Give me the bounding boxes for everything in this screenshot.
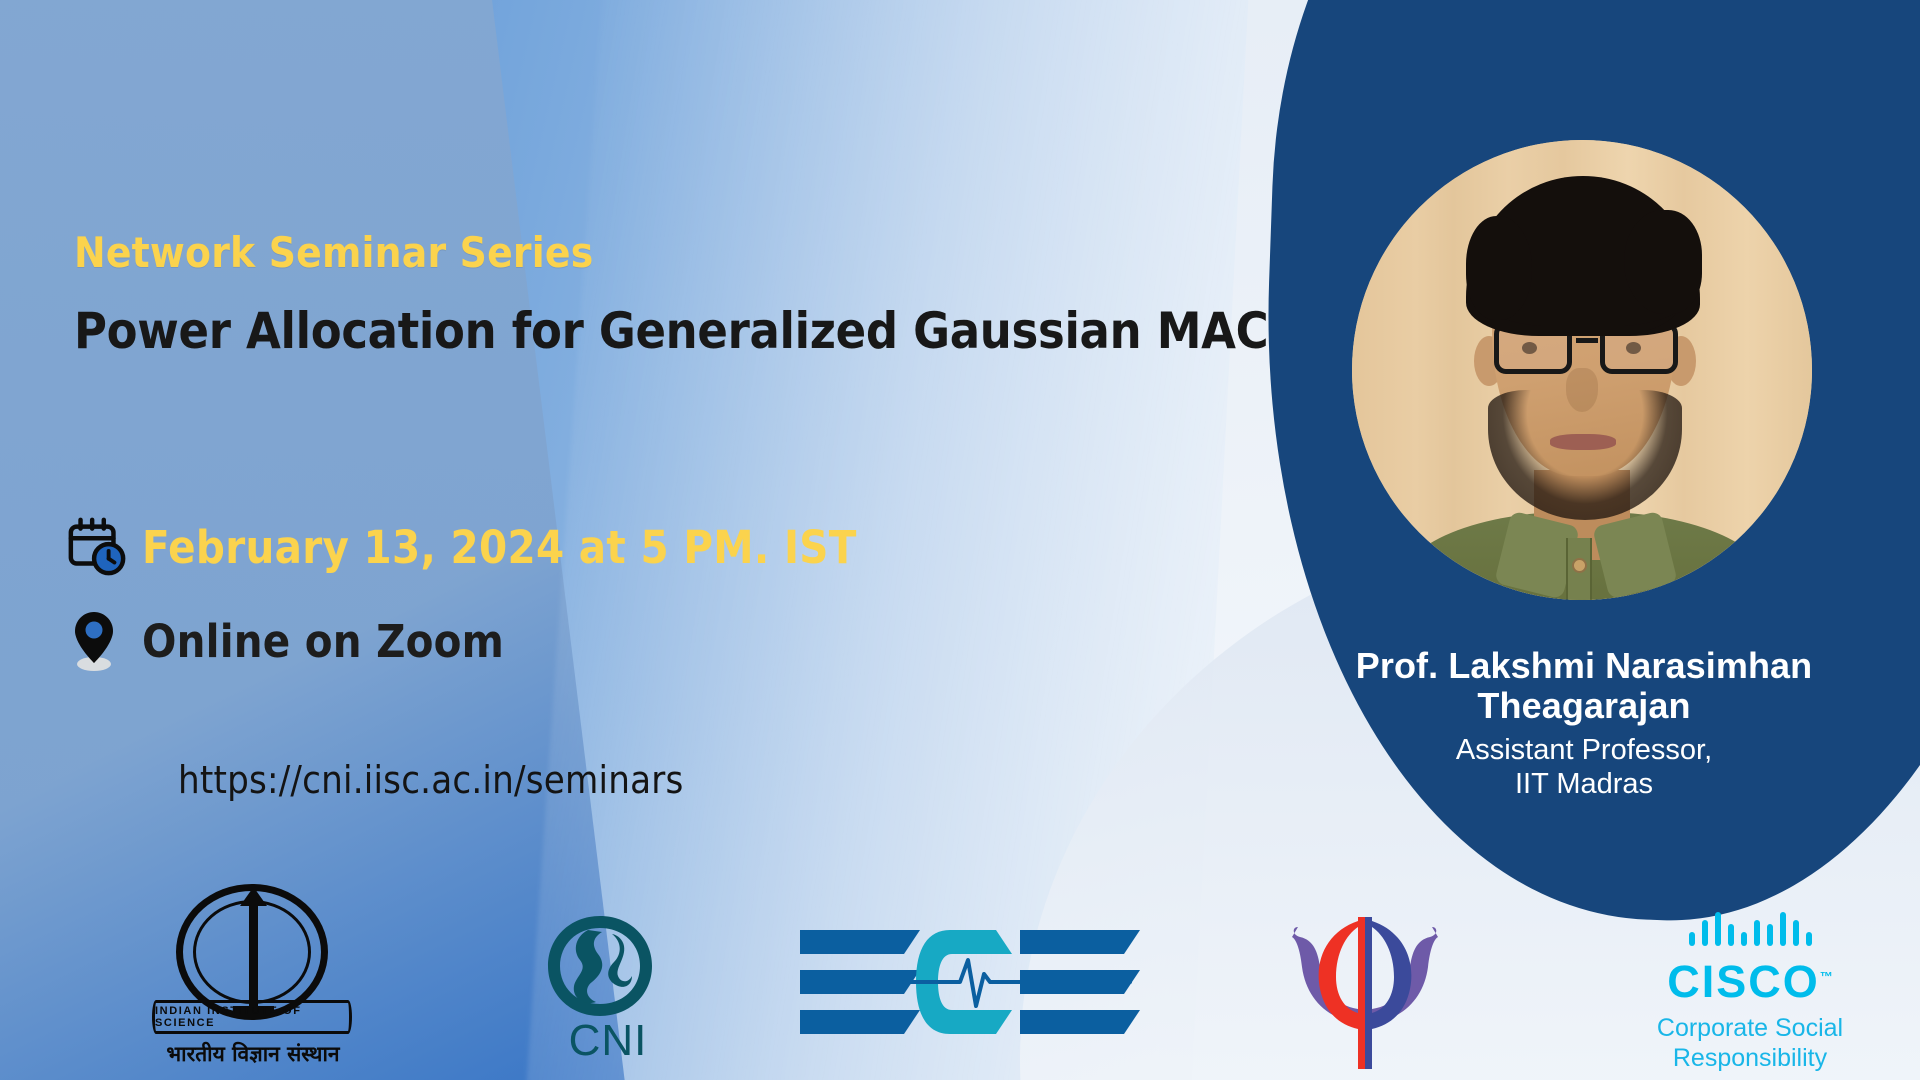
seminar-date: February 13, 2024 at 5 PM. IST	[142, 521, 857, 574]
cisco-bridge-icon	[1640, 906, 1860, 946]
iisc-pillar-icon	[249, 904, 258, 1010]
ece-logo	[800, 922, 1140, 1042]
iisc-logo: INDIAN INSTITUTE OF SCIENCE भारतीय विज्ञ…	[148, 882, 358, 1078]
cni-swirl-icon	[542, 912, 658, 1020]
cni-logo: CNI	[528, 912, 688, 1072]
seminar-poster: Network Seminar Series Power Allocation …	[0, 0, 1920, 1080]
iisc-ribbon-text: INDIAN INSTITUTE OF SCIENCE	[155, 1005, 349, 1029]
cisco-csr-line-1: Corporate Social	[1640, 1014, 1860, 1044]
iisc-hindi-text: भारतीय विज्ञान संस्थान	[148, 1040, 358, 1068]
series-kicker: Network Seminar Series	[74, 228, 593, 277]
psi-logo	[1290, 909, 1440, 1074]
cisco-logo: CISCO™ Corporate Social Responsibility	[1640, 906, 1860, 1076]
photo-shirt-button	[1572, 558, 1587, 573]
photo-glasses	[1492, 322, 1680, 378]
photo-glasses-bridge	[1576, 338, 1598, 343]
speaker-details: Prof. Lakshmi Narasimhan Theagarajan Ass…	[1306, 646, 1862, 801]
logo-strip: INDIAN INSTITUTE OF SCIENCE भारतीय विज्ञ…	[0, 870, 1920, 1080]
speaker-affiliation-line-2: IIT Madras	[1306, 767, 1862, 801]
location-pin-icon	[66, 610, 142, 672]
photo-lens-left	[1494, 322, 1572, 374]
iisc-ribbon: INDIAN INSTITUTE OF SCIENCE	[152, 1000, 352, 1034]
cisco-csr-line-2: Responsibility	[1640, 1044, 1860, 1074]
speaker-name-line-2: Theagarajan	[1306, 686, 1862, 726]
photo-mouth	[1550, 434, 1616, 450]
speaker-affiliation-line-1: Assistant Professor,	[1306, 733, 1862, 767]
venue-row: Online on Zoom	[66, 610, 504, 672]
photo-lens-right	[1600, 322, 1678, 374]
cni-label: CNI	[528, 1016, 688, 1066]
cisco-word-text: CISCO	[1667, 956, 1820, 1007]
cisco-csr-text: Corporate Social Responsibility	[1640, 1014, 1860, 1073]
calendar-clock-icon	[66, 516, 142, 578]
cisco-wordmark: CISCO™	[1640, 956, 1860, 1008]
seminar-url[interactable]: https://cni.iisc.ac.in/seminars	[178, 758, 683, 802]
speaker-name-line-1: Prof. Lakshmi Narasimhan	[1306, 646, 1862, 686]
date-row: February 13, 2024 at 5 PM. IST	[66, 516, 857, 578]
page-title: Power Allocation for Generalized Gaussia…	[74, 302, 1268, 360]
cisco-trademark: ™	[1820, 969, 1833, 984]
seminar-venue: Online on Zoom	[142, 615, 504, 668]
speaker-photo	[1352, 140, 1812, 600]
